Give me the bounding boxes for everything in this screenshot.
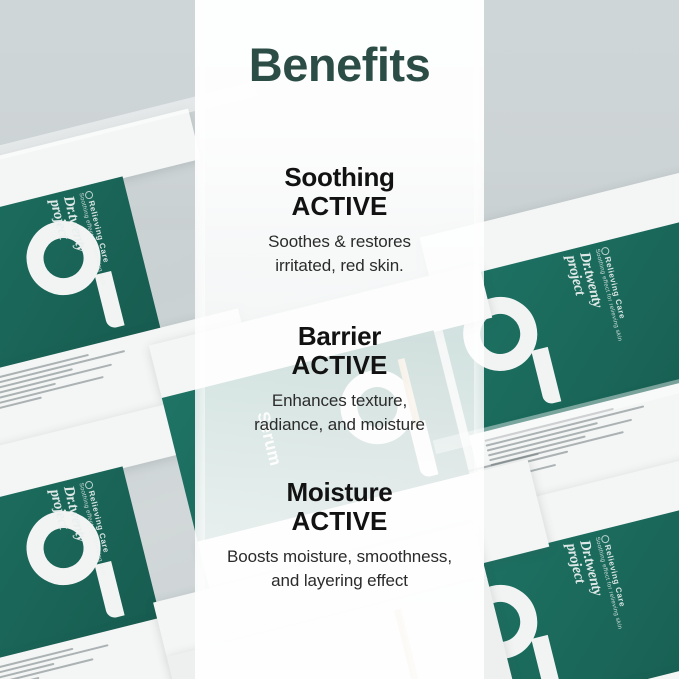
benefit-item-barrier: Barrier ACTIVE Enhances texture, radianc…	[189, 322, 490, 436]
benefit-title-top: Soothing	[189, 163, 490, 192]
benefits-content: Benefits Soothing ACTIVE Soothes & resto…	[195, 0, 484, 679]
benefit-description-line-1: Soothes & restores	[268, 232, 411, 251]
benefit-item-soothing: Soothing ACTIVE Soothes & restores irrit…	[189, 163, 490, 277]
benefit-title-bottom: ACTIVE	[189, 351, 490, 380]
benefit-description: Soothes & restores irritated, red skin.	[189, 230, 490, 277]
benefit-title-bottom: ACTIVE	[189, 192, 490, 221]
benefit-title-top: Moisture	[189, 478, 490, 507]
benefit-description-line-1: Boosts moisture, smoothness,	[227, 547, 452, 566]
leaf-icon	[84, 480, 94, 490]
benefit-title-top: Barrier	[189, 322, 490, 351]
benefit-description: Boosts moisture, smoothness, and layerin…	[189, 545, 490, 592]
leaf-icon	[601, 246, 611, 256]
leaf-icon	[84, 190, 94, 200]
benefit-description-line-2: radiance, and moisture	[254, 415, 425, 434]
product-benefits-image: Serum Relieving Care Soothing effect for…	[0, 0, 679, 679]
benefit-title-bottom: ACTIVE	[189, 507, 490, 536]
benefit-item-moisture: Moisture ACTIVE Boosts moisture, smoothn…	[189, 478, 490, 592]
benefit-description-line-1: Enhances texture,	[272, 391, 407, 410]
benefit-description-line-2: and layering effect	[271, 571, 408, 590]
page-title: Benefits	[195, 41, 484, 88]
benefit-description: Enhances texture, radiance, and moisture	[189, 389, 490, 436]
benefit-description-line-2: irritated, red skin.	[275, 256, 403, 275]
leaf-icon	[601, 534, 611, 544]
